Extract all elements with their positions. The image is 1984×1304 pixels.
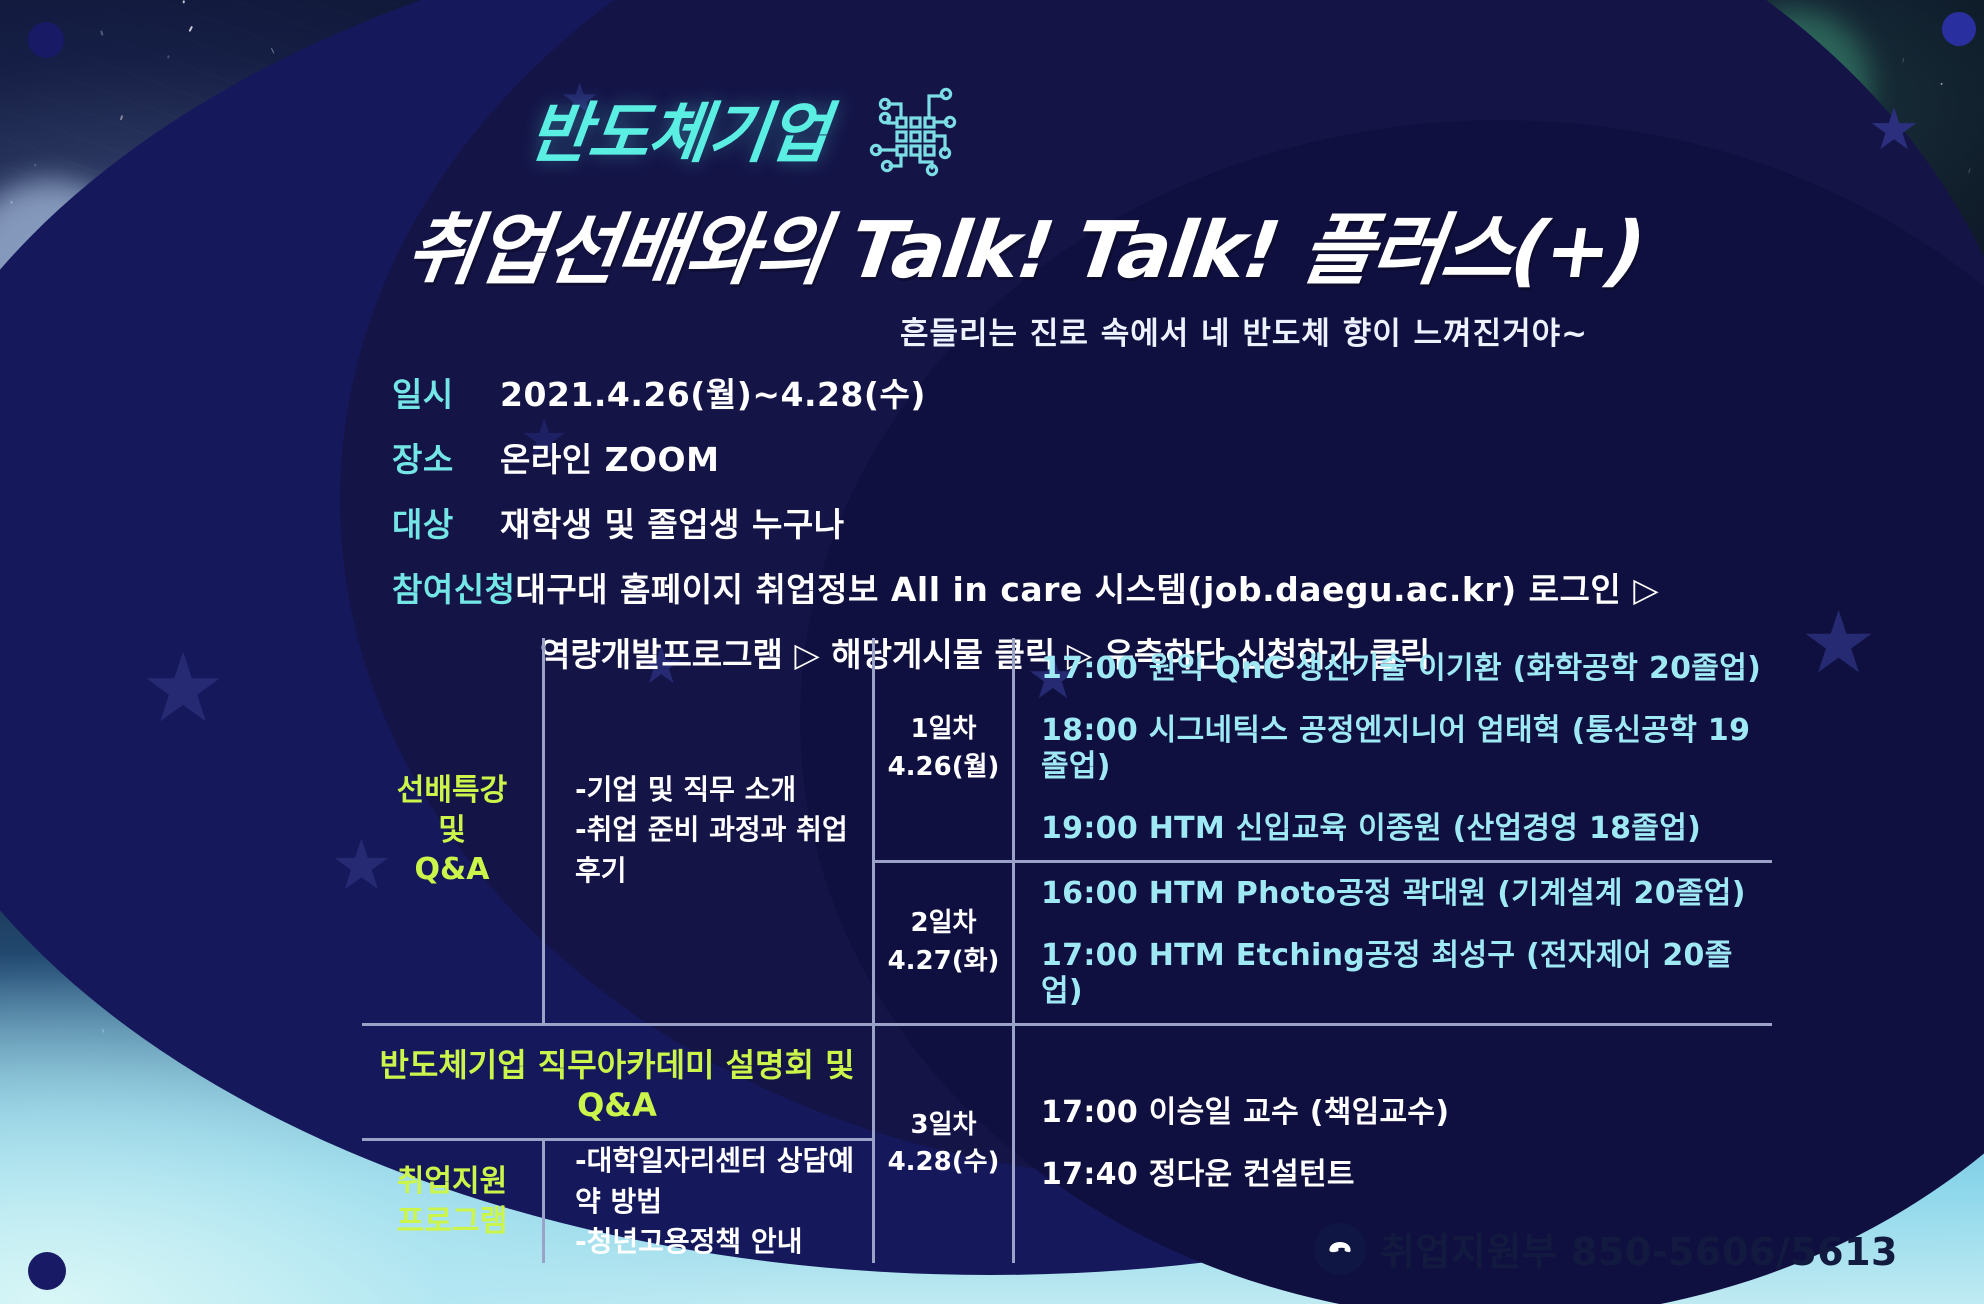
items-cell-day1: 17:00 원익 QnC 생산기술 이기환 (화학공학 20졸업) 18:00 … xyxy=(1012,638,1772,860)
desc-3-line2: -청년고용정책 안내 xyxy=(575,1222,872,1263)
category-cell-3: 취업지원 프로그램 xyxy=(362,1141,542,1263)
day1-label: 1일차 xyxy=(888,711,1000,749)
info-block: 일시 2021.4.26(월)~4.28(수) 장소 온라인 ZOOM 대상 재… xyxy=(392,368,1642,676)
category-3-row: 취업지원 프로그램 -대학일자리센터 상담예약 방법 -청년고용정책 안내 xyxy=(362,1141,872,1263)
desc-1-line2: -취업 준비 과정과 취업 후기 xyxy=(575,810,872,891)
day1-date: 4.26(월) xyxy=(888,749,1000,787)
info-row-apply: 참여신청 대구대 홈페이지 취업정보 All in care 시스템(job.d… xyxy=(392,563,1642,611)
corner-dot-topright xyxy=(1942,12,1976,46)
info-value-apply: 대구대 홈페이지 취업정보 All in care 시스템(job.daegu.… xyxy=(515,563,1659,611)
items-cell-day2: 16:00 HTM Photo공정 곽대원 (기계설계 20졸업) 17:00 … xyxy=(1012,863,1772,1023)
session-item: 17:00 HTM Etching공정 최성구 (전자제어 20졸업) xyxy=(1041,938,1772,1010)
deco-star-1: ★ xyxy=(140,640,226,736)
deco-star-5: ★ xyxy=(1800,600,1877,686)
info-value-place: 온라인 ZOOM xyxy=(500,433,719,481)
session-item: 17:00 원익 QnC 생산기술 이기환 (화학공학 20졸업) xyxy=(1041,651,1772,687)
description-cell-1: -기업 및 직무 소개 -취업 준비 과정과 취업 후기 xyxy=(542,638,872,1023)
headline-row: 반도체기업 xyxy=(530,78,959,178)
phone-icon xyxy=(1314,1223,1366,1275)
eyebrow-text: 반도체기업 xyxy=(524,80,834,176)
poster-canvas: ★ ★ ★ ★ ★ ★ ★ ★ 반도체기업 xyxy=(0,0,1984,1304)
desc-1-line1: -기업 및 직무 소개 xyxy=(575,770,872,811)
corner-dot-bottomleft xyxy=(28,1252,66,1290)
page-title: 취업선배와의 Talk! Talk! 플러스(+) xyxy=(400,188,1651,300)
day-cell-3: 3일차 4.28(수) xyxy=(872,1026,1012,1263)
day2-label: 2일차 xyxy=(888,905,1000,943)
category-cell-2: 반도체기업 직무아카데미 설명회 및 Q&A xyxy=(362,1026,872,1138)
deco-star-6: ★ xyxy=(1868,100,1920,158)
day-cell-2: 2일차 4.27(화) xyxy=(872,863,1012,1023)
circuit-chip-icon xyxy=(855,78,959,178)
day3-label: 3일차 xyxy=(888,1107,1000,1145)
table-row-block-a: 선배특강 및 Q&A -기업 및 직무 소개 -취업 준비 과정과 취업 후기 … xyxy=(362,638,1772,1023)
tagline: 흔들리는 진로 속에서 네 반도체 향이 느껴진거야~ xyxy=(900,308,1588,353)
schedule-table: 선배특강 및 Q&A -기업 및 직무 소개 -취업 준비 과정과 취업 후기 … xyxy=(362,638,1772,1263)
session-item: 16:00 HTM Photo공정 곽대원 (기계설계 20졸업) xyxy=(1041,876,1772,912)
info-row-audience: 대상 재학생 및 졸업생 누구나 xyxy=(392,498,1642,546)
session-item: 19:00 HTM 신입교육 이종원 (산업경영 18졸업) xyxy=(1041,811,1772,847)
session-item: 17:40 정다운 컨설턴트 xyxy=(1041,1157,1772,1193)
category-1-line1: 선배특강 xyxy=(397,771,507,811)
day2-date: 4.27(화) xyxy=(888,943,1000,981)
category-1-line2: 및 xyxy=(397,811,507,851)
day-cell-1: 1일차 4.26(월) xyxy=(872,638,1012,860)
contact-bar: 취업지원부 850-5606/5613 xyxy=(1314,1221,1898,1276)
day3-date: 4.28(수) xyxy=(888,1144,1000,1182)
category-3-line2: 프로그램 xyxy=(397,1202,507,1242)
session-item: 18:00 시그네틱스 공정엔지니어 엄태혁 (통신공학 19졸업) xyxy=(1041,713,1772,785)
info-value-audience: 재학생 및 졸업생 누구나 xyxy=(500,498,845,546)
category-3-line1: 취업지원 xyxy=(397,1162,507,1202)
desc-3-line1: -대학일자리센터 상담예약 방법 xyxy=(575,1141,872,1222)
table-row-day2: 2일차 4.27(화) 16:00 HTM Photo공정 곽대원 (기계설계 … xyxy=(872,863,1772,1023)
info-label-date: 일시 xyxy=(392,368,500,416)
corner-dot-topleft xyxy=(28,22,64,58)
contact-text: 취업지원부 850-5606/5613 xyxy=(1380,1221,1898,1276)
table-row-day1: 1일차 4.26(월) 17:00 원익 QnC 생산기술 이기환 (화학공학 … xyxy=(872,638,1772,860)
category-1-line3: Q&A xyxy=(397,850,507,890)
info-row-date: 일시 2021.4.26(월)~4.28(수) xyxy=(392,368,1642,416)
info-label-place: 장소 xyxy=(392,433,500,481)
info-label-apply: 참여신청 xyxy=(392,563,515,611)
info-row-place: 장소 온라인 ZOOM xyxy=(392,433,1642,481)
category-cell-1: 선배특강 및 Q&A xyxy=(362,638,542,1023)
info-value-date: 2021.4.26(월)~4.28(수) xyxy=(500,368,926,416)
description-cell-3: -대학일자리센터 상담예약 방법 -청년고용정책 안내 xyxy=(542,1141,872,1263)
info-label-audience: 대상 xyxy=(392,498,500,546)
session-item: 17:00 이승일 교수 (책임교수) xyxy=(1041,1095,1772,1131)
